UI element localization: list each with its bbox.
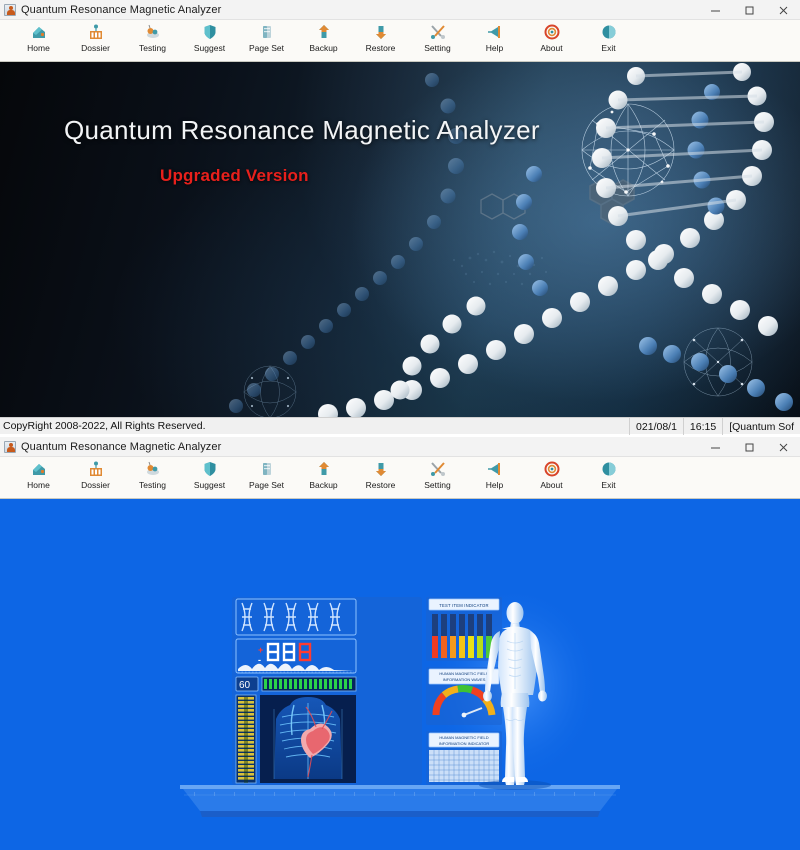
toolbar-label: Testing: [139, 44, 166, 53]
level-value: 60: [239, 680, 251, 691]
toolbar-label: Help: [486, 481, 503, 490]
help-pin-icon: [486, 460, 504, 478]
toolbar-button-testing[interactable]: Testing: [124, 457, 181, 499]
toolbar-button-page-set[interactable]: Page Set: [238, 457, 295, 499]
dossier-icon: [87, 460, 105, 478]
backup-up-arrow-icon: [315, 460, 333, 478]
minimize-icon[interactable]: [698, 0, 732, 20]
backup-up-arrow-icon: [315, 23, 333, 41]
toolbar-button-help[interactable]: Help: [466, 457, 523, 499]
home-icon: [30, 460, 48, 478]
svg-text:-: -: [258, 655, 261, 665]
toolbar-label: Help: [486, 44, 503, 53]
setting-tools-icon: [429, 23, 447, 41]
toolbar-label: Exit: [601, 44, 615, 53]
window-title: Quantum Resonance Magnetic Analyzer: [21, 441, 221, 453]
setting-tools-icon: [429, 460, 447, 478]
toolbar-label: Page Set: [249, 44, 284, 53]
toolbar-label: About: [540, 44, 562, 53]
toolbar-label: About: [540, 481, 562, 490]
toolbar-button-about[interactable]: About: [523, 20, 580, 62]
toolbar-label: Setting: [424, 481, 450, 490]
minimize-icon[interactable]: [698, 437, 732, 457]
toolbar-button-home[interactable]: Home: [10, 20, 67, 62]
titlebar-home: Quantum Resonance Magnetic Analyzer: [0, 0, 800, 20]
toolbar-button-dossier[interactable]: Dossier: [67, 457, 124, 499]
toolbar-label: Suggest: [194, 481, 225, 490]
exit-circle-icon: [600, 23, 618, 41]
restore-down-arrow-icon: [372, 23, 390, 41]
toolbar-label: Exit: [601, 481, 615, 490]
close-icon[interactable]: [766, 437, 800, 457]
toolbar-button-suggest[interactable]: Suggest: [181, 20, 238, 62]
toolbar-testing: Home Dossier Testing Suggest: [0, 457, 800, 499]
status-date: 021/08/1: [629, 418, 683, 435]
toolbar-label: Backup: [309, 44, 337, 53]
window-testing: Quantum Resonance Magnetic Analyzer Home: [0, 437, 800, 850]
maximize-icon[interactable]: [732, 437, 766, 457]
toolbar-label: Testing: [139, 481, 166, 490]
toolbar-button-backup[interactable]: Backup: [295, 457, 352, 499]
toolbar-button-suggest[interactable]: Suggest: [181, 457, 238, 499]
suggest-shield-icon: [201, 460, 219, 478]
toolbar-button-setting[interactable]: Setting: [409, 20, 466, 62]
toolbar-home: Home Dossier Testing Suggest: [0, 20, 800, 62]
status-time: 16:15: [683, 418, 722, 435]
toolbar-button-dossier[interactable]: Dossier: [67, 20, 124, 62]
help-pin-icon: [486, 23, 504, 41]
toolbar-label: Page Set: [249, 481, 284, 490]
statusbar-cells: 021/08/1 16:15 [Quantum Sof: [629, 418, 800, 435]
test-item-indicator-label: TEST ITEM INDICATOR: [439, 603, 488, 608]
toolbar-button-home[interactable]: Home: [10, 457, 67, 499]
toolbar-button-page-set[interactable]: Page Set: [238, 20, 295, 62]
page-set-icon: [258, 460, 276, 478]
toolbar-label: Restore: [366, 481, 396, 490]
banner-subtitle: Upgraded Version: [160, 166, 309, 186]
suggest-shield-icon: [201, 23, 219, 41]
toolbar-label: Setting: [424, 44, 450, 53]
toolbar-label: Dossier: [81, 481, 110, 490]
toolbar-button-testing[interactable]: Testing: [124, 20, 181, 62]
titlebar-testing: Quantum Resonance Magnetic Analyzer: [0, 437, 800, 457]
statusbar-home: CopyRight 2008-2022, All Rights Reserved…: [0, 417, 800, 434]
close-icon[interactable]: [766, 0, 800, 20]
testing-icon: [144, 460, 162, 478]
toolbar-label: Home: [27, 44, 50, 53]
status-app-name: [Quantum Sof: [722, 418, 800, 435]
toolbar-label: Restore: [366, 44, 396, 53]
application-root: Quantum Resonance Magnetic Analyzer Home: [0, 0, 800, 850]
page-set-icon: [258, 23, 276, 41]
exit-circle-icon: [600, 460, 618, 478]
app-person-icon: [4, 4, 16, 16]
toolbar-button-about[interactable]: About: [523, 457, 580, 499]
window-controls: [698, 0, 800, 20]
toolbar-button-setting[interactable]: Setting: [409, 457, 466, 499]
copyright-text: CopyRight 2008-2022, All Rights Reserved…: [0, 420, 206, 432]
magnetic-indicator-label-line1: HUMAN MAGNETIC FIELD: [439, 735, 488, 740]
testing-content: + - 60: [0, 499, 800, 850]
toolbar-button-backup[interactable]: Backup: [295, 20, 352, 62]
magnetic-waves-label-line1: HUMAN MAGNETIC FIELD: [439, 671, 488, 676]
toolbar-label: Suggest: [194, 44, 225, 53]
toolbar-button-restore[interactable]: Restore: [352, 20, 409, 62]
toolbar-button-help[interactable]: Help: [466, 20, 523, 62]
about-target-icon: [543, 23, 561, 41]
banner-title: Quantum Resonance Magnetic Analyzer: [64, 115, 540, 146]
home-icon: [30, 23, 48, 41]
home-banner: Quantum Resonance Magnetic Analyzer Upgr…: [0, 62, 800, 417]
toolbar-label: Dossier: [81, 44, 110, 53]
magnetic-waves-label-line2: INFORMATION WAVES: [443, 677, 486, 682]
analyzer-hero-illustration: + - 60: [170, 589, 630, 819]
magnetic-indicator-label-line2: INFORMATION INDICATOR: [439, 741, 490, 746]
restore-down-arrow-icon: [372, 460, 390, 478]
toolbar-button-exit[interactable]: Exit: [580, 457, 637, 499]
svg-text:+: +: [258, 645, 263, 655]
window-controls: [698, 437, 800, 457]
window-title: Quantum Resonance Magnetic Analyzer: [21, 4, 221, 16]
about-target-icon: [543, 460, 561, 478]
toolbar-label: Backup: [309, 481, 337, 490]
maximize-icon[interactable]: [732, 0, 766, 20]
app-person-icon: [4, 441, 16, 453]
window-home: Quantum Resonance Magnetic Analyzer Home: [0, 0, 800, 436]
toolbar-label: Home: [27, 481, 50, 490]
toolbar-button-restore[interactable]: Restore: [352, 457, 409, 499]
dossier-icon: [87, 23, 105, 41]
testing-icon: [144, 23, 162, 41]
toolbar-button-exit[interactable]: Exit: [580, 20, 637, 62]
human-torso-heart-scan: [274, 697, 342, 779]
